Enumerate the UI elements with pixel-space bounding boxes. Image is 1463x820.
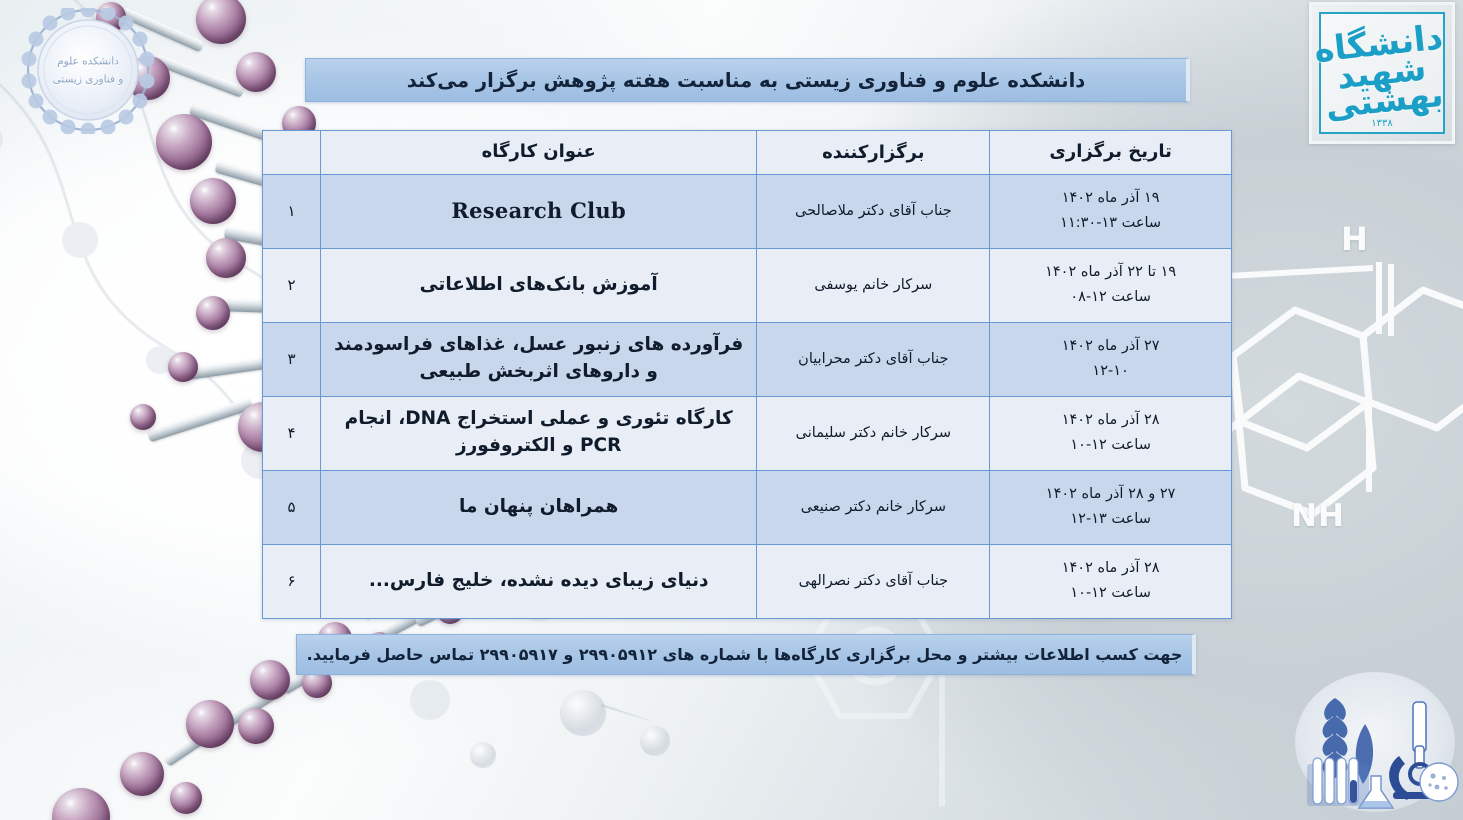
date-line-2: ساعت ۱۲-۱۰ xyxy=(998,581,1223,606)
cell-organizer: جناب آقای دکتر نصرالهی xyxy=(757,544,990,618)
cell-workshop-title: دنیای زیبای دیده نشده، خلیج فارس... xyxy=(320,544,757,618)
cell-workshop-title: کارگاه تئوری و عملی استخراج DNA، انجام P… xyxy=(320,396,757,470)
table-row: ۱۹ آذر ماه ۱۴۰۲ساعت ۱۳-۱۱:۳۰جناب آقای دک… xyxy=(263,174,1232,248)
contact-banner: جهت کسب اطلاعات بیشتر و محل برگزاری کارگ… xyxy=(296,634,1196,675)
cell-organizer: سرکار خانم یوسفی xyxy=(757,248,990,322)
cell-organizer: سرکار خانم دکتر سلیمانی xyxy=(757,396,990,470)
faculty-seal-line1: دانشکده علوم xyxy=(12,53,164,71)
cell-organizer: سرکار خانم دکتر صنیعی xyxy=(757,470,990,544)
cell-row-number: ۴ xyxy=(263,396,321,470)
faculty-seal-text: دانشکده علوم و فناوری زیستی xyxy=(12,53,164,90)
table-row: ۲۷ آذر ماه ۱۴۰۲۱۲-۱۰جناب آقای دکتر محراب… xyxy=(263,322,1232,396)
cell-date: ۲۷ آذر ماه ۱۴۰۲۱۲-۱۰ xyxy=(990,322,1232,396)
cell-row-number: ۳ xyxy=(263,322,321,396)
science-illustration-logo xyxy=(1289,668,1461,818)
header-number xyxy=(263,131,321,175)
cell-organizer: جناب آقای دکتر محرابیان xyxy=(757,322,990,396)
table-row: ۲۸ آذر ماه ۱۴۰۲ساعت ۱۲-۱۰جناب آقای دکتر … xyxy=(263,544,1232,618)
faculty-seal-logo: دانشکده علوم و فناوری زیستی xyxy=(12,8,164,134)
date-line-1: ۲۷ آذر ماه ۱۴۰۲ xyxy=(998,334,1223,359)
university-logo-frame: دانشگاه شهید بهشتی ۱۳۳۸ xyxy=(1319,12,1445,134)
cell-workshop-title: فرآورده های زنبور عسل، غذاهای فراسودمند … xyxy=(320,322,757,396)
cell-date: ۱۹ آذر ماه ۱۴۰۲ساعت ۱۳-۱۱:۳۰ xyxy=(990,174,1232,248)
cell-row-number: ۲ xyxy=(263,248,321,322)
header-date: تاریخ برگزاری xyxy=(990,131,1232,175)
date-line-1: ۲۸ آذر ماه ۱۴۰۲ xyxy=(998,556,1223,581)
chem-label-h: H xyxy=(1341,220,1369,258)
date-line-1: ۲۸ آذر ماه ۱۴۰۲ xyxy=(998,408,1223,433)
date-line-2: ساعت ۱۲-۰۸ xyxy=(998,285,1223,310)
cell-workshop-title: Research Club xyxy=(320,174,757,248)
cell-date: ۲۸ آذر ماه ۱۴۰۲ساعت ۱۲-۱۰ xyxy=(990,396,1232,470)
table-body: ۱۹ آذر ماه ۱۴۰۲ساعت ۱۳-۱۱:۳۰جناب آقای دک… xyxy=(263,174,1232,618)
workshop-schedule-table: تاریخ برگزاری برگزارکننده عنوان کارگاه ۱… xyxy=(262,130,1232,619)
table-row: ۲۸ آذر ماه ۱۴۰۲ساعت ۱۲-۱۰سرکار خانم دکتر… xyxy=(263,396,1232,470)
cell-date: ۲۸ آذر ماه ۱۴۰۲ساعت ۱۲-۱۰ xyxy=(990,544,1232,618)
date-line-2: ساعت ۱۲-۱۰ xyxy=(998,433,1223,458)
workshop-title-latin: Research Club xyxy=(451,198,626,223)
date-line-1: ۲۷ و ۲۸ آذر ماه ۱۴۰۲ xyxy=(998,482,1223,507)
table-row: ۲۷ و ۲۸ آذر ماه ۱۴۰۲ساعت ۱۳-۱۲سرکار خانم… xyxy=(263,470,1232,544)
cell-workshop-title: همراهان پنهان ما xyxy=(320,470,757,544)
university-logo: دانشگاه شهید بهشتی ۱۳۳۸ xyxy=(1309,2,1455,144)
science-illustration-svg xyxy=(1289,668,1461,818)
header-organizer: برگزارکننده xyxy=(757,131,990,175)
cell-workshop-title: آموزش بانک‌های اطلاعاتی xyxy=(320,248,757,322)
date-line-2: ۱۲-۱۰ xyxy=(998,359,1223,384)
cell-row-number: ۶ xyxy=(263,544,321,618)
hexagon-echo-decoration xyxy=(690,586,1010,816)
cell-organizer: جناب آقای دکتر ملاصالحی xyxy=(757,174,990,248)
table-header-row: تاریخ برگزاری برگزارکننده عنوان کارگاه xyxy=(263,131,1232,175)
cell-row-number: ۱ xyxy=(263,174,321,248)
cell-row-number: ۵ xyxy=(263,470,321,544)
table-row: ۱۹ تا ۲۲ آذر ماه ۱۴۰۲ساعت ۱۲-۰۸سرکار خان… xyxy=(263,248,1232,322)
faculty-seal-line2: و فناوری زیستی xyxy=(12,71,164,89)
poster-canvas: CH3 H NH xyxy=(0,0,1463,820)
university-logo-year: ۱۳۳۸ xyxy=(1321,118,1443,129)
chem-label-nh: NH xyxy=(1291,498,1345,534)
university-logo-calligraphy: دانشگاه شهید بهشتی xyxy=(1313,24,1450,123)
date-line-2: ساعت ۱۳-۱۱:۳۰ xyxy=(998,211,1223,236)
date-line-1: ۱۹ آذر ماه ۱۴۰۲ xyxy=(998,186,1223,211)
date-line-2: ساعت ۱۳-۱۲ xyxy=(998,507,1223,532)
table-header: تاریخ برگزاری برگزارکننده عنوان کارگاه xyxy=(263,131,1232,175)
cell-date: ۲۷ و ۲۸ آذر ماه ۱۴۰۲ساعت ۱۳-۱۲ xyxy=(990,470,1232,544)
cell-date: ۱۹ تا ۲۲ آذر ماه ۱۴۰۲ساعت ۱۲-۰۸ xyxy=(990,248,1232,322)
date-line-1: ۱۹ تا ۲۲ آذر ماه ۱۴۰۲ xyxy=(998,260,1223,285)
title-banner: دانشکده علوم و فناوری زیستی به مناسبت هف… xyxy=(305,58,1190,102)
header-title: عنوان کارگاه xyxy=(320,131,757,175)
